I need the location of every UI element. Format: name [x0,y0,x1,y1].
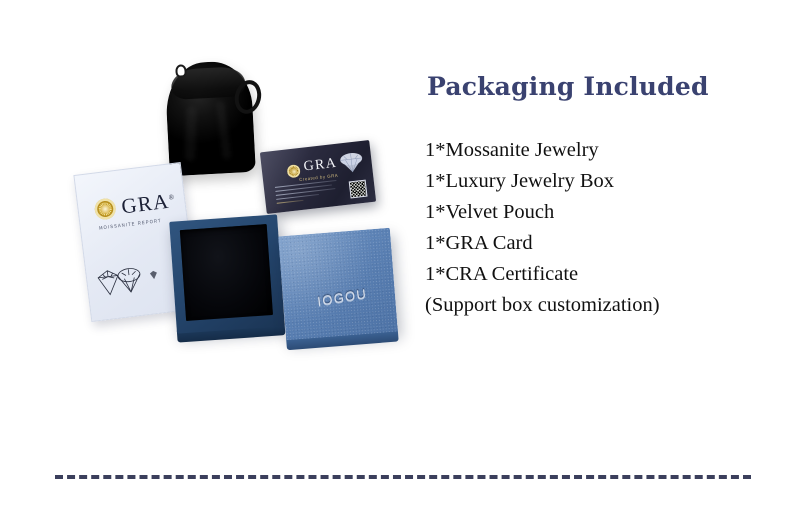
velvet-pouch [164,60,256,176]
certificate-brand: GRA® [120,188,177,219]
box-velvet-insert [180,224,273,321]
certificate-brand-text: GRA [120,189,171,219]
list-item: 1*Velvet Pouch [425,197,765,228]
packaging-product-photo: GRA® MOISSANITE REPORT GRA Created by GR… [60,50,390,370]
jewelry-box-base [169,214,285,333]
page-title: Packaging Included [427,72,765,101]
product-packaging-banner: GRA® MOISSANITE REPORT GRA Created by GR… [0,0,800,510]
lid-texture [278,228,398,340]
jewelry-box-lid: IOGOU [278,228,398,340]
list-item: 1*Mossanite Jewelry [425,135,765,166]
section-divider [55,475,751,479]
packaging-contents-list: 1*Mossanite Jewelry 1*Luxury Jewelry Box… [425,135,765,321]
list-item: 1*CRA Certificate [425,259,765,290]
gold-seal-icon [94,197,117,220]
list-item: 1*Luxury Jewelry Box [425,166,765,197]
packaging-text-panel: Packaging Included 1*Mossanite Jewelry 1… [425,72,765,321]
certificate-subtitle: MOISSANITE REPORT [99,217,162,230]
pouch-fold [216,101,231,160]
qr-code-icon [349,180,368,199]
diamond-illustration-icon [94,258,168,302]
gra-card: GRA Created by GRA [260,140,376,214]
diamond-photo-icon [337,149,366,176]
registered-mark: ® [168,193,175,202]
list-item: (Support box customization) [425,290,765,321]
gra-card-body-text [275,180,339,207]
pouch-loop-icon [175,64,187,78]
pouch-fold [185,107,197,161]
list-item: 1*GRA Card [425,228,765,259]
